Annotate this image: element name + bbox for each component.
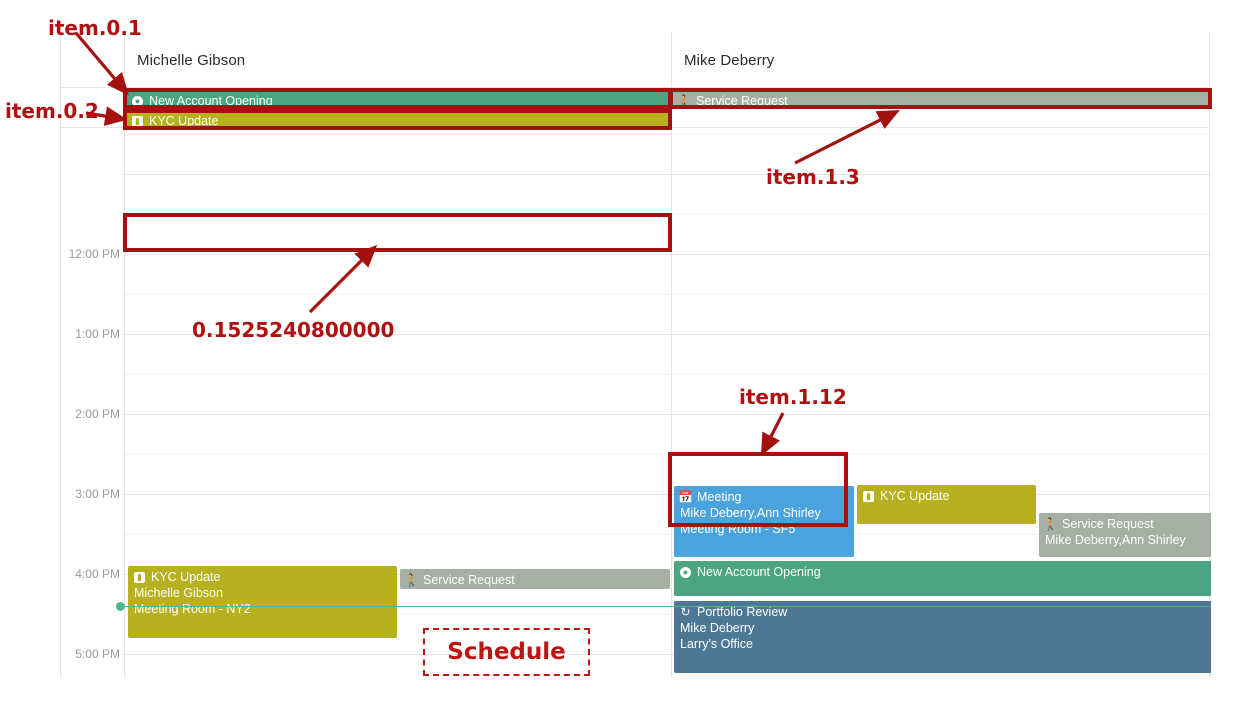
- event-title: Service Request: [423, 572, 515, 588]
- time-label: 12:00 PM: [69, 247, 120, 261]
- event-title: Meeting: [697, 489, 741, 505]
- event-location: Meeting Room - NY2: [134, 601, 391, 617]
- event-attendees: Michelle Gibson: [134, 585, 391, 601]
- event-service-request-col0[interactable]: 🚶 Service Request: [400, 569, 670, 589]
- event-title: KYC Update: [880, 488, 949, 504]
- event-attendees: Mike Deberry: [680, 620, 1211, 636]
- chart-badge-icon: ▮: [863, 491, 874, 502]
- chart-badge-icon: ▮: [132, 116, 143, 127]
- resource-header-label: Mike Deberry: [672, 52, 774, 69]
- event-attendees: Mike Deberry,Ann Shirley: [680, 505, 848, 521]
- refresh-icon: ↻: [680, 607, 691, 618]
- time-label: 5:00 PM: [75, 647, 120, 661]
- grid-hour-line: [124, 494, 1211, 495]
- calendar-header-row: Michelle Gibson Mike Deberry: [61, 32, 1209, 88]
- circle-badge-icon: ●: [680, 567, 691, 578]
- all-day-event-kyc-update[interactable]: ▮ KYC Update: [126, 110, 670, 128]
- all-day-band: ● New Account Opening ▮ KYC Update 🚶 Ser…: [61, 88, 1209, 128]
- grid-halfhour-line: [124, 294, 1211, 295]
- time-label: 3:00 PM: [75, 487, 120, 501]
- current-time-line: [124, 606, 1211, 607]
- calendar-grid-body[interactable]: 📅 Meeting Mike Deberry,Ann Shirley Meeti…: [124, 128, 1211, 677]
- all-day-event-service-request[interactable]: 🚶 Service Request: [673, 90, 1210, 108]
- runner-icon: 🚶: [1045, 519, 1056, 530]
- event-title: KYC Update: [151, 569, 220, 585]
- time-label: 2:00 PM: [75, 407, 120, 421]
- event-title: New Account Opening: [697, 564, 821, 580]
- time-gutter: 12:00 PM 1:00 PM 2:00 PM 3:00 PM 4:00 PM…: [61, 128, 124, 677]
- event-service-request-col1[interactable]: 🚶 Service Request Mike Deberry,Ann Shirl…: [1039, 513, 1211, 557]
- event-meeting[interactable]: 📅 Meeting Mike Deberry,Ann Shirley Meeti…: [674, 486, 854, 557]
- event-new-account-opening-col1[interactable]: ● New Account Opening: [674, 561, 1211, 596]
- event-kyc-update-col1[interactable]: ▮ KYC Update: [857, 485, 1036, 524]
- event-title: KYC Update: [149, 113, 218, 128]
- current-time-dot: [116, 602, 125, 611]
- grid-halfhour-line: [124, 214, 1211, 215]
- grid-hour-line: [124, 174, 1211, 175]
- circle-badge-icon: ●: [132, 96, 143, 107]
- chart-badge-icon: ▮: [134, 572, 145, 583]
- event-location: Meeting Room - SF5: [680, 521, 848, 537]
- all-day-event-new-account-opening[interactable]: ● New Account Opening: [126, 90, 670, 108]
- resource-header-label: Michelle Gibson: [125, 52, 245, 69]
- calendar-badge-icon: 📅: [680, 492, 691, 503]
- grid-hour-line: [124, 334, 1211, 335]
- time-label: 1:00 PM: [75, 327, 120, 341]
- runner-icon: 🚶: [406, 575, 417, 586]
- grid-hour-line: [124, 414, 1211, 415]
- event-title: Service Request: [1062, 516, 1154, 532]
- grid-halfhour-line: [124, 374, 1211, 375]
- grid-column-divider: [124, 128, 125, 677]
- resource-header-mike-deberry[interactable]: Mike Deberry: [671, 32, 1211, 88]
- resource-header-michelle-gibson[interactable]: Michelle Gibson: [124, 32, 671, 88]
- event-title: New Account Opening: [149, 93, 273, 108]
- event-portfolio-review[interactable]: ↻ Portfolio Review Mike Deberry Larry's …: [674, 601, 1211, 673]
- grid-halfhour-line: [124, 134, 1211, 135]
- event-kyc-update-col0[interactable]: ▮ KYC Update Michelle Gibson Meeting Roo…: [128, 566, 397, 638]
- schedule-calendar[interactable]: Michelle Gibson Mike Deberry ● New Accou…: [60, 32, 1210, 677]
- grid-column-divider: [671, 128, 672, 677]
- runner-icon: 🚶: [679, 96, 690, 107]
- event-attendees: Mike Deberry,Ann Shirley: [1045, 532, 1211, 548]
- grid-halfhour-line: [124, 454, 1211, 455]
- grid-hour-line: [124, 254, 1211, 255]
- event-title: Service Request: [696, 93, 788, 108]
- time-label: 4:00 PM: [75, 567, 120, 581]
- screenshot-root: Michelle Gibson Mike Deberry ● New Accou…: [0, 0, 1243, 703]
- event-location: Larry's Office: [680, 636, 1211, 652]
